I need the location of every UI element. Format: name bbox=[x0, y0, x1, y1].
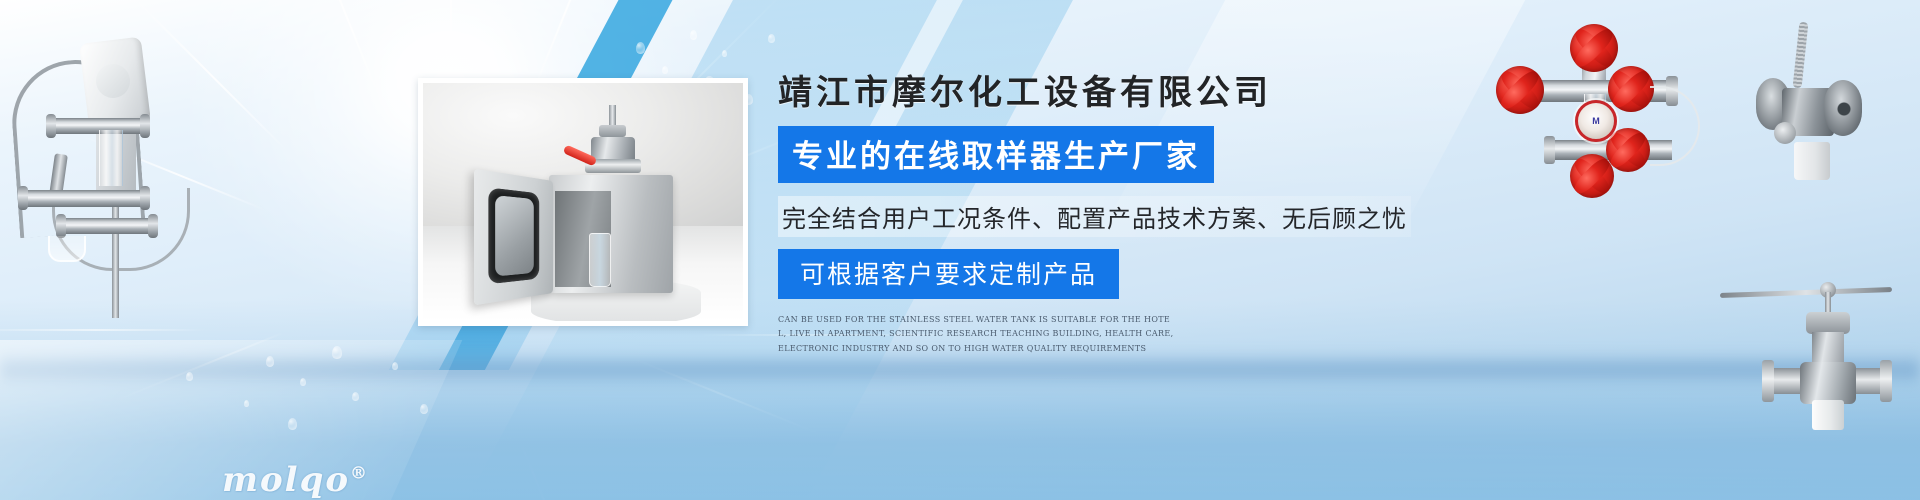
tagline-highlight: 专业的在线取样器生产厂家 bbox=[778, 126, 1214, 183]
sampler-flange-a bbox=[46, 114, 56, 138]
cross-valve-handwheel-right bbox=[1608, 66, 1654, 112]
gate-valve-crossbar bbox=[1720, 287, 1892, 298]
photo-sample-bottle bbox=[589, 233, 611, 287]
sampler-upper-manifold bbox=[50, 118, 146, 134]
product-cross-valve-assembly: M bbox=[1500, 28, 1700, 178]
custom-product-highlight: 可根据客户要求定制产品 bbox=[778, 249, 1119, 299]
gate-valve-left-flange bbox=[1762, 360, 1774, 402]
cross-valve-tubing bbox=[1650, 86, 1700, 166]
product-photo-cabinet-sampler bbox=[418, 78, 748, 326]
gate-valve-bottom-pot bbox=[1812, 400, 1844, 430]
lever-valve-handle bbox=[1793, 22, 1809, 89]
gate-valve-neck bbox=[1812, 332, 1844, 366]
cross-valve-handwheel-left bbox=[1496, 66, 1544, 114]
photo-door-window bbox=[495, 195, 534, 276]
cross-valve-handwheel-bottom bbox=[1570, 154, 1614, 198]
photo-valve-cap bbox=[599, 125, 626, 137]
sampler-beaker bbox=[48, 236, 86, 262]
registered-trademark-icon: ® bbox=[350, 464, 369, 484]
sampler-flange-f bbox=[148, 214, 158, 238]
lever-valve-knob bbox=[1774, 122, 1796, 144]
cross-valve-handwheel-top bbox=[1570, 24, 1618, 72]
gate-valve-right-flange bbox=[1880, 360, 1892, 402]
seal-monogram: M bbox=[1592, 116, 1600, 126]
product-gate-valve bbox=[1772, 262, 1912, 442]
brand-watermark: molqo® bbox=[222, 460, 369, 500]
sampler-lower-manifold bbox=[22, 190, 146, 207]
subline-text: 完全结合用户工况条件、配置产品技术方案、无后顾之忧 bbox=[778, 196, 1411, 237]
sampler-flange-c bbox=[18, 186, 28, 210]
gate-valve-bonnet bbox=[1806, 312, 1850, 334]
banner-text-block: 靖江市摩尔化工设备有限公司 专业的在线取样器生产厂家 完全结合用户工况条件、配置… bbox=[778, 72, 1418, 357]
cross-valve-lower-left-flange bbox=[1544, 136, 1555, 164]
lever-valve-bolt-holes bbox=[1834, 92, 1854, 126]
company-name: 靖江市摩尔化工设备有限公司 bbox=[778, 72, 1418, 115]
sampler-sight-glass bbox=[99, 130, 123, 186]
gate-valve-body bbox=[1800, 362, 1856, 404]
sampler-bottom-manifold bbox=[60, 218, 152, 234]
sampler-flange-b bbox=[140, 114, 150, 138]
photo-top-valve bbox=[585, 105, 639, 179]
watermark-wordmark: molqo bbox=[222, 460, 350, 500]
promo-banner: M 靖江市摩尔化工设备有限公司 专业的在线取样器生产厂家 完全结合用户工况条件、… bbox=[0, 0, 1920, 500]
cross-valve-handwheel-lower bbox=[1606, 128, 1650, 172]
sampler-flange-e bbox=[56, 214, 66, 238]
sampler-flange-d bbox=[140, 186, 150, 210]
cross-valve-certification-seal: M bbox=[1575, 100, 1617, 142]
lever-valve-sample-pot bbox=[1794, 142, 1830, 180]
photo-cabinet-door bbox=[474, 169, 553, 306]
product-lever-valve bbox=[1760, 22, 1910, 207]
english-caption: CAN BE USED FOR THE STAINLESS STEEL WATE… bbox=[778, 313, 1178, 357]
product-online-sampler bbox=[0, 18, 190, 318]
